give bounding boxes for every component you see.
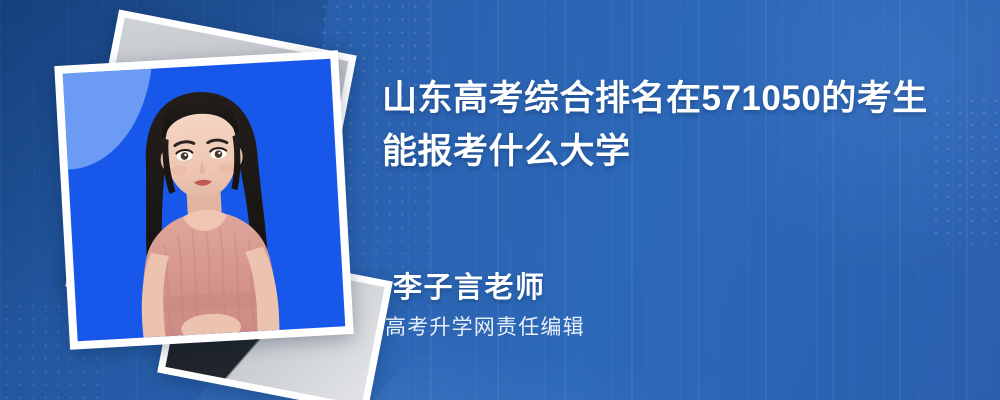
byline: 李子言老师 高考升学网责任编辑 bbox=[393, 270, 933, 342]
photo-stack bbox=[52, 28, 352, 373]
banner-content: 山东高考综合排名在571050的考生 能报考什么大学 李子言老师 高考升学网责任… bbox=[380, 0, 980, 400]
author-name: 李子言老师 bbox=[393, 270, 933, 306]
page-title-line-1: 山东高考综合排名在571050的考生 bbox=[382, 72, 962, 125]
teacher-portrait-image bbox=[63, 59, 346, 342]
photo-frame-main bbox=[54, 50, 353, 349]
article-header-banner: 山东高考综合排名在571050的考生 能报考什么大学 李子言老师 高考升学网责任… bbox=[0, 0, 1000, 400]
page-title-line-2: 能报考什么大学 bbox=[382, 125, 962, 178]
author-role: 高考升学网责任编辑 bbox=[385, 314, 933, 342]
page-title: 山东高考综合排名在571050的考生 能报考什么大学 bbox=[382, 72, 962, 178]
photo-frame-main-content bbox=[63, 59, 346, 342]
